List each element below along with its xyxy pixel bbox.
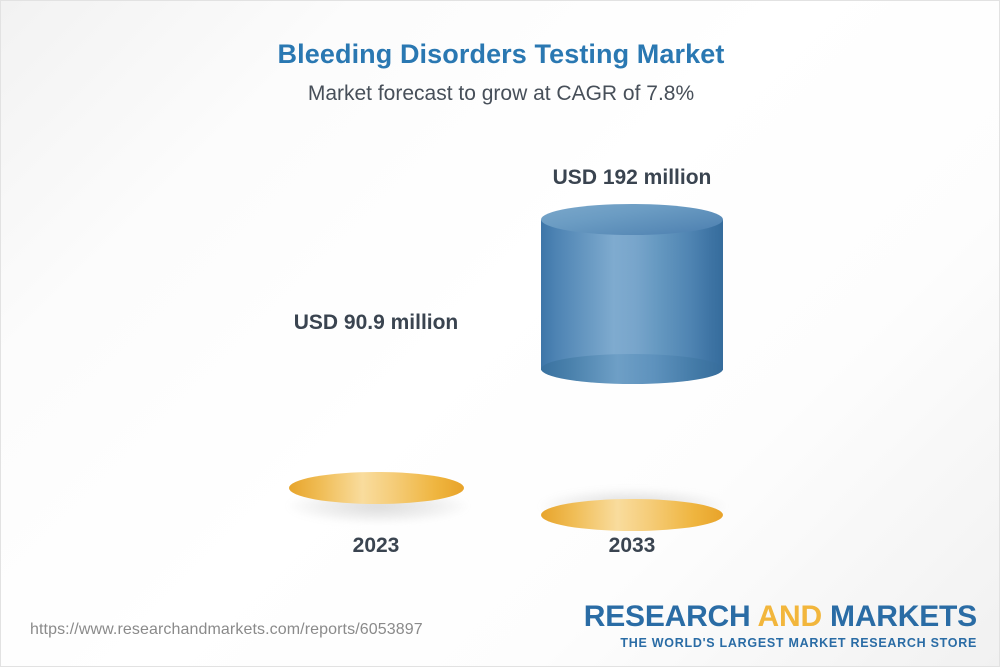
report-url[interactable]: https://www.researchandmarkets.com/repor… [30,621,423,639]
logo-wordmark: RESEARCH AND MARKETS [584,601,977,633]
logo-tagline: THE WORLD'S LARGEST MARKET RESEARCH STOR… [584,634,977,652]
cylinder-segment-divider-2033 [541,354,723,384]
bar-cylinder-2033[interactable] [541,204,723,518]
chart-plot-area: USD 90.9 million 2023 USD 192 million [1,1,1000,667]
bar-value-label-2023: USD 90.9 million [216,311,536,335]
infographic-canvas: Bleeding Disorders Testing Market Market… [0,0,1000,667]
logo-word-markets: MARKETS [822,600,977,633]
bar-cylinder-2023[interactable] [289,358,464,518]
cylinder-top-cap-2033 [541,204,723,235]
cylinder-body-2023 [289,374,464,488]
logo-word-and: AND [758,600,822,633]
cylinder-top-cap-2023 [289,358,464,390]
logo-word-research: RESEARCH [584,600,758,633]
cylinder-segment-growth-2033 [541,220,723,370]
cylinder-segment-base-2033 [541,364,723,515]
bar-category-label-2033: 2033 [472,534,792,558]
research-and-markets-logo[interactable]: RESEARCH AND MARKETS THE WORLD'S LARGEST… [584,601,977,652]
bar-value-label-2033: USD 192 million [472,166,792,190]
